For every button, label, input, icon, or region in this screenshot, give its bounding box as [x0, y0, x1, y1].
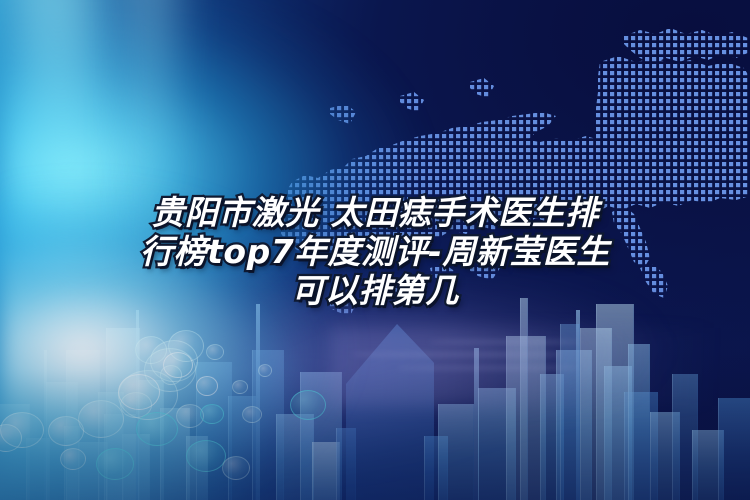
title-line-3: 可以排第几	[0, 271, 750, 310]
title-line-1: 贵阳市激光 太田痣手术医生排	[0, 193, 750, 232]
banner-image: 贵阳市激光 太田痣手术医生排 行榜top7年度测评-周新莹医生 可以排第几	[0, 0, 750, 500]
page-title: 贵阳市激光 太田痣手术医生排 行榜top7年度测评-周新莹医生 可以排第几	[0, 193, 750, 310]
title-line-2: 行榜top7年度测评-周新莹医生	[0, 232, 750, 271]
